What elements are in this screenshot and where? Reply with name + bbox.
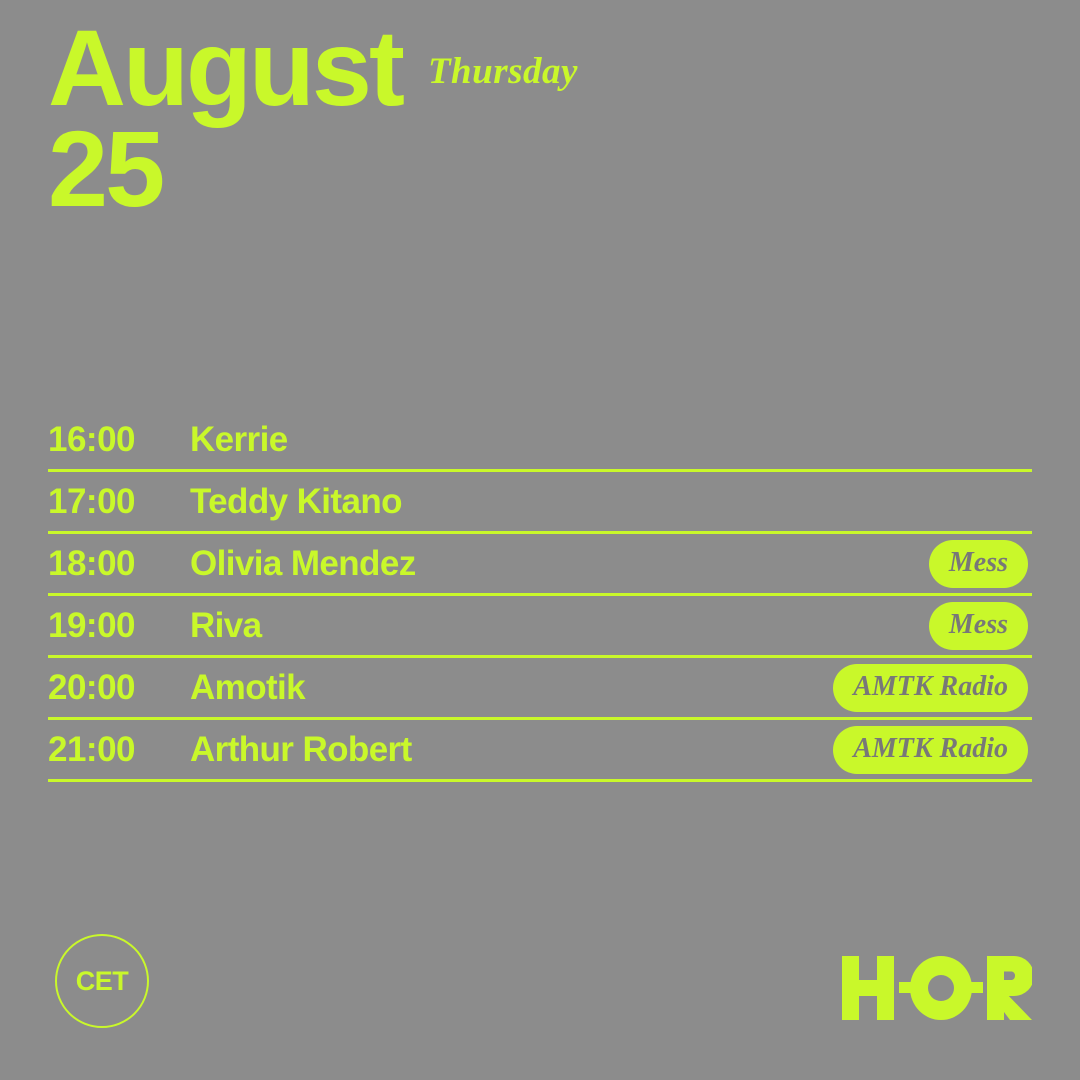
row-artist: Amotik	[190, 668, 833, 708]
schedule-row[interactable]: 18:00 Olivia Mendez Mess	[48, 534, 1032, 596]
schedule-row[interactable]: 16:00 Kerrie	[48, 410, 1032, 472]
schedule-row[interactable]: 20:00 Amotik AMTK Radio	[48, 658, 1032, 720]
weekday-label: Thursday	[428, 50, 578, 93]
row-artist: Riva	[190, 606, 929, 646]
row-time: 16:00	[48, 420, 190, 460]
row-tag: Mess	[929, 602, 1028, 650]
schedule-row[interactable]: 17:00 Teddy Kitano	[48, 472, 1032, 534]
row-artist: Olivia Mendez	[190, 544, 929, 584]
row-time: 21:00	[48, 730, 190, 770]
schedule-row[interactable]: 19:00 Riva Mess	[48, 596, 1032, 658]
timezone-badge: CET	[55, 934, 149, 1028]
header: August Thursday 25	[48, 18, 1032, 219]
row-time: 17:00	[48, 482, 190, 522]
date-month: August	[48, 18, 402, 117]
row-artist: Teddy Kitano	[190, 482, 1032, 522]
timezone-label: CET	[76, 966, 129, 997]
schedule-list: 16:00 Kerrie 17:00 Teddy Kitano 18:00 Ol…	[48, 410, 1032, 782]
row-artist: Kerrie	[190, 420, 1032, 460]
row-artist: Arthur Robert	[190, 730, 833, 770]
schedule-row[interactable]: 21:00 Arthur Robert AMTK Radio	[48, 720, 1032, 782]
row-tag: AMTK Radio	[833, 664, 1028, 712]
row-time: 19:00	[48, 606, 190, 646]
row-tag: Mess	[929, 540, 1028, 588]
hor-logo-icon	[842, 950, 1032, 1026]
row-tag: AMTK Radio	[833, 726, 1028, 774]
row-time: 18:00	[48, 544, 190, 584]
date-line: August Thursday	[48, 18, 1032, 117]
poster-canvas: August Thursday 25 16:00 Kerrie 17:00 Te…	[0, 0, 1080, 1080]
row-time: 20:00	[48, 668, 190, 708]
date-day: 25	[48, 119, 1032, 218]
